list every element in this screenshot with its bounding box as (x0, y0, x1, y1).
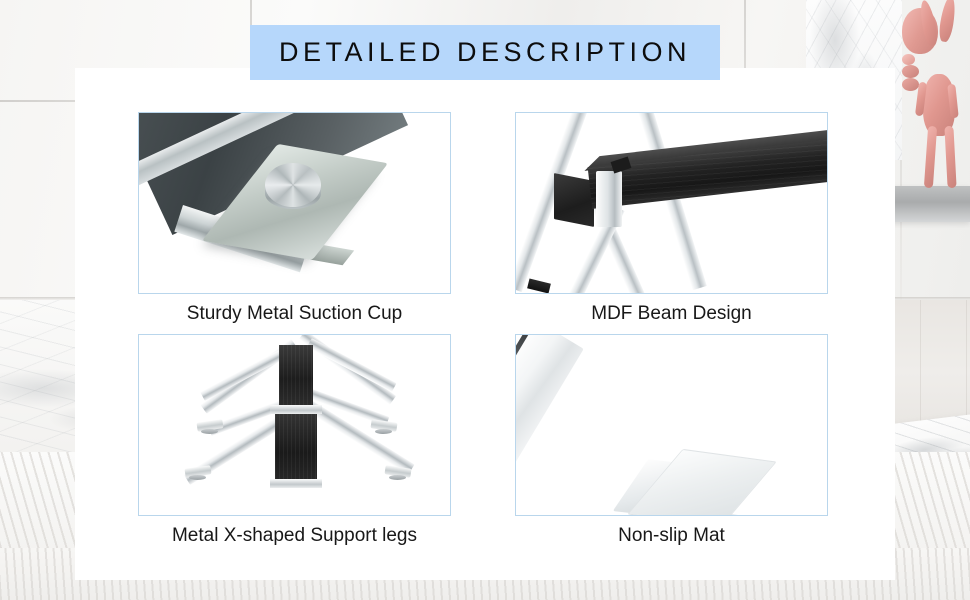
feature-caption-x-support-legs: Metal X-shaped Support legs (138, 520, 451, 552)
black-column-lower (275, 413, 317, 485)
chrome-joint-collar (596, 171, 622, 227)
leg-pad-back-right (375, 429, 392, 434)
feature-image-x-support-legs (138, 334, 451, 516)
feature-image-suction-cup (138, 112, 451, 294)
chrome-leg-foot (527, 278, 551, 293)
bunny-leg-right (944, 126, 956, 188)
feature-cell-mdf-beam: MDF Beam Design (515, 112, 828, 330)
x-rod-upper-left-2 (307, 338, 396, 392)
page-title: DETAILED DESCRIPTION (279, 37, 691, 68)
bunny-foot-left (902, 65, 919, 78)
mdf-beam-end-cap (554, 173, 594, 227)
feature-cell-suction-cup: Sturdy Metal Suction Cup (138, 112, 451, 330)
chrome-band-upper (270, 405, 322, 414)
feature-grid: Sturdy Metal Suction Cup MDF Beam Design (138, 112, 828, 552)
x-rod-upper-right-2 (200, 347, 289, 401)
title-banner: DETAILED DESCRIPTION (250, 25, 720, 80)
black-column-upper (279, 345, 313, 407)
feature-caption-mdf-beam: MDF Beam Design (515, 298, 828, 330)
leg-pad-front-right (389, 475, 406, 480)
feature-caption-non-slip-mat: Non-slip Mat (515, 520, 828, 552)
feature-image-mdf-beam (515, 112, 828, 294)
leg-pad-front-left (189, 475, 206, 480)
bunny-figurine (902, 8, 970, 198)
feature-image-non-slip-mat (515, 334, 828, 516)
leg-pad-back-left (201, 429, 218, 434)
bunny-foot-right (902, 78, 919, 91)
chrome-band-lower (270, 479, 322, 488)
bunny-leg-left (924, 126, 937, 188)
bunny-snout (902, 54, 915, 65)
feature-cell-x-support-legs: Metal X-shaped Support legs (138, 334, 451, 552)
suction-cup-disc (265, 163, 321, 207)
feature-caption-suction-cup: Sturdy Metal Suction Cup (138, 298, 451, 330)
feature-cell-non-slip-mat: Non-slip Mat (515, 334, 828, 552)
chrome-leg-shaft (515, 334, 584, 512)
